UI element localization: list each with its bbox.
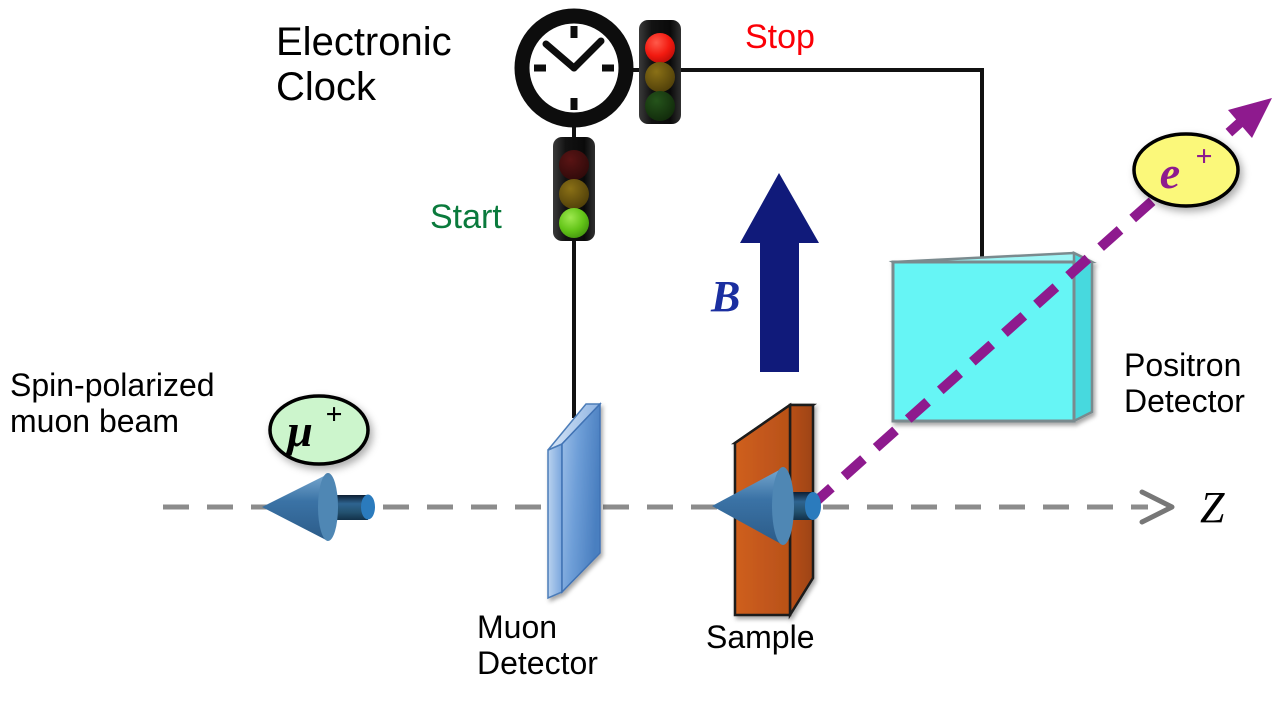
positron-badge xyxy=(1134,134,1238,206)
start-traffic-light[interactable] xyxy=(553,137,595,241)
stop-lamp-green xyxy=(645,91,675,121)
clock-tick-9 xyxy=(534,65,546,72)
clock-tick-3 xyxy=(602,65,614,72)
incoming-spin-cone-base xyxy=(318,473,338,541)
muon-badge xyxy=(270,396,368,464)
incoming-muon-spin-arrow xyxy=(262,473,375,541)
clock-tick-12 xyxy=(571,26,578,38)
figure-canvas: μ + e + Electronic Clock Start Stop Spin… xyxy=(0,0,1280,707)
positron-badge-ellipse xyxy=(1134,134,1238,206)
positron-detector[interactable] xyxy=(893,253,1092,421)
sample-spin-cone-base xyxy=(772,467,794,545)
sample-label: Sample xyxy=(706,620,815,656)
start-lamp-red xyxy=(559,150,589,180)
positron-detector-label: Positron Detector xyxy=(1124,348,1245,420)
muon-badge-ellipse xyxy=(270,396,368,464)
muon-detector-left-edge xyxy=(548,444,562,598)
muon-particle-label: μ xyxy=(285,405,313,456)
magnetic-field-label: B xyxy=(711,272,740,321)
wire-stop-to-positron-detector xyxy=(676,70,982,262)
muon-charge-label: + xyxy=(325,398,342,431)
stop-traffic-light[interactable] xyxy=(639,20,681,124)
magnetic-field-arrow-shape xyxy=(740,173,819,372)
stop-label: Stop xyxy=(745,18,815,56)
start-lamp-green xyxy=(559,208,589,238)
positron-detector-front-face xyxy=(893,262,1074,421)
z-axis-label: Z xyxy=(1200,483,1224,532)
start-lamp-amber xyxy=(559,179,589,209)
diagram-svg: μ + e + xyxy=(0,0,1280,707)
sample-spin-shaft-cap xyxy=(805,492,821,520)
incoming-spin-shaft-cap xyxy=(361,495,375,520)
stop-lamp-red xyxy=(645,33,675,63)
muon-detector[interactable] xyxy=(548,404,600,598)
positron-particle-label: e xyxy=(1160,147,1180,198)
stop-lamp-amber xyxy=(645,62,675,92)
muon-detector-label: Muon Detector xyxy=(477,610,598,682)
start-label: Start xyxy=(430,198,502,236)
clock-tick-6 xyxy=(571,98,578,110)
positron-detector-side-face xyxy=(1074,253,1092,421)
electronic-clock[interactable] xyxy=(522,16,626,120)
positron-charge-label: + xyxy=(1195,140,1212,173)
electronic-clock-label: Electronic Clock xyxy=(276,20,452,110)
spin-polarized-muon-beam-label: Spin-polarized muon beam xyxy=(10,368,215,440)
magnetic-field-arrow xyxy=(740,173,819,372)
